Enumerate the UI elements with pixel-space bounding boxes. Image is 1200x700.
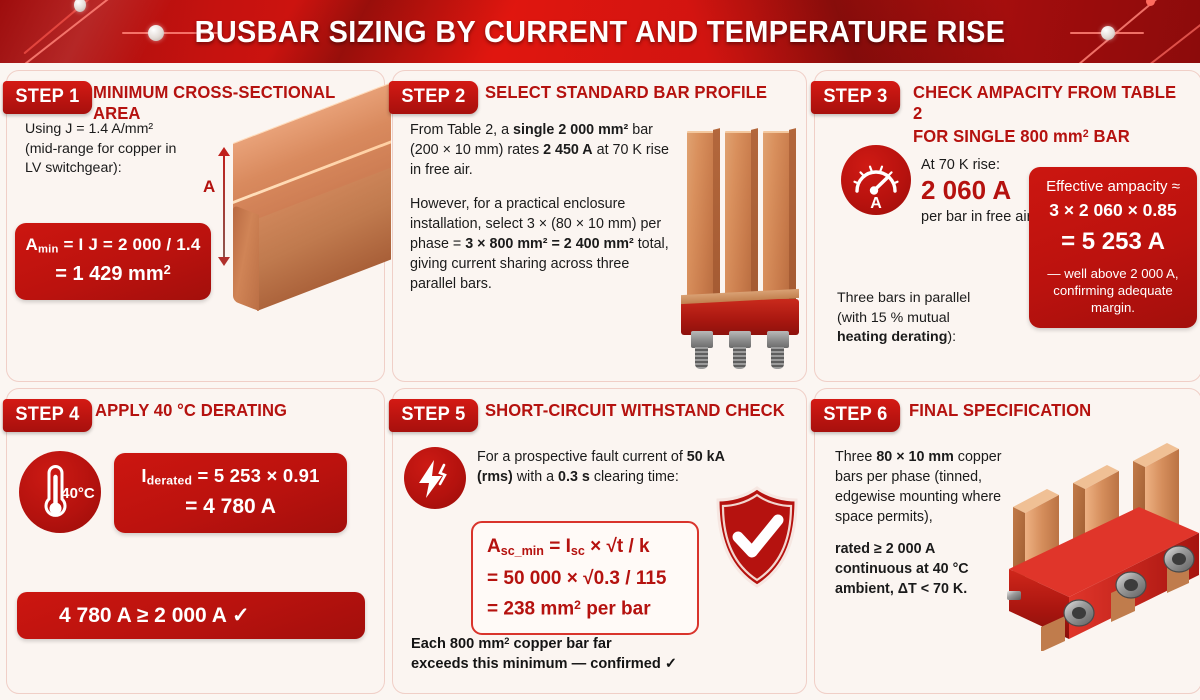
- step-1-formula-line-1: Amin = I J = 2 000 / 1.4: [23, 235, 203, 255]
- p5-b2: 0.3 s: [558, 469, 590, 485]
- step-1-formula-box: Amin = I J = 2 000 / 1.4 = 1 429 mm2: [15, 223, 211, 300]
- busbar-thread-2: [733, 347, 746, 369]
- p5-t2: with a: [513, 469, 558, 485]
- step-3-box-line-1: Effective ampacity ≈: [1039, 178, 1187, 195]
- three-bar-busbar-illustration: [681, 131, 801, 361]
- step-5-formula-line-1: Asc_min = Isc × √t / k: [487, 533, 685, 565]
- p2-t1: From Table 2, a: [410, 122, 513, 138]
- formula-result: = 1 429 mm: [55, 263, 163, 285]
- step-3-parallel-line-2: (with 15 % mutual: [837, 309, 1027, 329]
- p2-b2: 2 450 A: [543, 142, 593, 158]
- step-4-badge: STEP 4: [3, 399, 92, 432]
- p6-b2: rated ≥ 2 000 A continuous at 40 °C ambi…: [835, 541, 969, 597]
- p5-tail: × √t / k: [585, 536, 650, 557]
- busbar-base-block: [681, 299, 799, 335]
- step-3-parallel-line-1: Three bars in parallel: [837, 289, 1027, 309]
- step-3-title-line-2a: FOR SINGLE 800 mm: [913, 126, 1083, 146]
- step-3-at-rise-label: At 70 K rise:: [921, 157, 1000, 173]
- p5-sub-2: sc: [571, 544, 585, 558]
- dimension-label-A: A: [203, 177, 215, 197]
- busbar-nut-1: [691, 331, 713, 348]
- busbar-nut-3: [767, 331, 789, 348]
- step-3-box-line-3: = 5 253 A: [1039, 228, 1187, 256]
- p5-res-tail: per bar: [581, 598, 651, 619]
- step-3-box-note-2: confirming adequate margin.: [1039, 282, 1187, 316]
- step-2-paragraph-1: From Table 2, a single 2 000 mm² bar (20…: [410, 120, 670, 180]
- step-panel-2: STEP 2 SELECT STANDARD BAR PROFILE From …: [392, 70, 807, 382]
- p5-sym-A: A: [487, 536, 501, 557]
- ampacity-gauge-icon: A: [841, 145, 911, 215]
- step-4-title: APPLY 40 °C DERATING: [95, 400, 287, 421]
- step-5-badge: STEP 5: [389, 399, 478, 432]
- step-5-formula-box: Asc_min = Isc × √t / k = 50 000 × √0.3 /…: [471, 521, 699, 635]
- step-panel-4: STEP 4 APPLY 40 °C DERATING 40°C Iderate…: [6, 388, 385, 694]
- step-5-intro: For a prospective fault current of 50 kA…: [477, 447, 753, 487]
- step-3-parallel-note: Three bars in parallel (with 15 % mutual…: [837, 289, 1027, 348]
- step-1-intro-line-1: Using J = 1.4 A/mm²: [25, 120, 215, 140]
- step-3-title-line-1: CHECK AMPACITY FROM TABLE 2: [913, 82, 1176, 123]
- copper-bar-front-face: [233, 205, 259, 311]
- step-4-formula-box: Iderated = 5 253 × 0.91 = 4 780 A: [114, 453, 347, 533]
- p5-f2: copper bar far: [510, 636, 612, 652]
- step-6-body: Three 80 × 10 mm copper bars per phase (…: [835, 447, 1015, 599]
- p6-t1: Three: [835, 449, 876, 465]
- step-3-parallel-line-3: heating derating):: [837, 328, 1027, 348]
- step-4-subscript: derated: [147, 474, 192, 488]
- step-panel-3: STEP 3 CHECK AMPACITY FROM TABLE 2 FOR S…: [814, 70, 1200, 382]
- p5-f1: Each 800 mm: [411, 636, 504, 652]
- svg-text:40°C: 40°C: [61, 485, 95, 502]
- step-3-title: CHECK AMPACITY FROM TABLE 2 FOR SINGLE 8…: [913, 82, 1187, 147]
- svg-text:A: A: [870, 195, 882, 212]
- step-4-header: STEP 4 APPLY 40 °C DERATING: [7, 389, 384, 433]
- formula-superscript-2: 2: [164, 262, 171, 277]
- busbar-thread-1: [695, 347, 708, 369]
- step-4-formula-rest: = 5 253 × 0.91: [192, 465, 319, 486]
- step-5-formula-line-3: = 238 mm2 per bar: [487, 592, 685, 622]
- step-2-badge: STEP 2: [389, 81, 478, 114]
- step-panel-1: STEP 1 MINIMUM CROSS-SECTIONAL AREA Usin…: [6, 70, 385, 382]
- step-5-header: STEP 5 SHORT-CIRCUIT WITHSTAND CHECK: [393, 389, 806, 433]
- steps-grid: STEP 1 MINIMUM CROSS-SECTIONAL AREA Usin…: [6, 70, 1194, 696]
- lightning-bolt-icon: [404, 447, 466, 509]
- step-6-header: STEP 6 FINAL SPECIFICATION: [815, 389, 1200, 433]
- step-5-footnote: Each 800 mm2 copper bar far exceeds this…: [411, 631, 761, 674]
- step-3-result-box: Effective ampacity ≈ 3 × 2 060 × 0.85 = …: [1029, 167, 1197, 328]
- step-5-footnote-line-2: exceeds this minimum — confirmed ✓: [411, 654, 761, 674]
- step-2-body: From Table 2, a single 2 000 mm² bar (20…: [410, 120, 670, 294]
- step-6-badge: STEP 6: [811, 399, 900, 432]
- step-1-intro-line-3: LV switchgear):: [25, 159, 215, 179]
- step-1-formula-line-2: = 1 429 mm2: [23, 262, 203, 286]
- page-header: BUSBAR SIZING BY CURRENT AND TEMPERATURE…: [0, 0, 1200, 63]
- p5-t3: clearing time:: [590, 469, 679, 485]
- step-3-derating-bold: heating derating: [837, 329, 947, 345]
- p2-b1: single 2 000 mm²: [513, 122, 628, 138]
- step-3-per-bar-note: per bar in free air.: [921, 209, 1035, 225]
- step-3-box-line-4: — well above 2 000 A, confirming adequat…: [1039, 265, 1187, 316]
- step-6-block-1: Three 80 × 10 mm copper bars per phase (…: [835, 447, 1015, 527]
- busbar-thread-3: [771, 347, 784, 369]
- page-title: BUSBAR SIZING BY CURRENT AND TEMPERATURE…: [42, 0, 1158, 63]
- step-5-footnote-line-1: Each 800 mm2 copper bar far: [411, 631, 761, 654]
- step-3-ampacity-value: 2 060 A: [921, 175, 1011, 206]
- p5-sub-1: sc_min: [501, 544, 544, 558]
- dimension-arrow-down-icon: [218, 257, 230, 266]
- step-1-intro: Using J = 1.4 A/mm² (mid-range for coppe…: [25, 120, 215, 179]
- p6-b1: 80 × 10 mm: [876, 449, 954, 465]
- step-1-intro-line-2: (mid-range for copper in: [25, 140, 215, 160]
- step-3-box-line-2: 3 × 2 060 × 0.85: [1039, 200, 1187, 221]
- step-3-title-line-2b: BAR: [1089, 126, 1130, 146]
- step-2-header: STEP 2 SELECT STANDARD BAR PROFILE: [393, 71, 806, 115]
- step-4-result-bar: 4 780 A ≥ 2 000 A ✓: [17, 592, 365, 639]
- final-busbar-assembly-illustration: [1007, 441, 1200, 651]
- formula-rest: = I J = 2 000 / 1.4: [59, 235, 201, 254]
- formula-symbol-A: A: [25, 235, 37, 254]
- step-4-formula-line-2: = 4 780 A: [124, 495, 337, 519]
- temperature-thermometer-icon: 40°C: [19, 451, 101, 533]
- step-3-header: STEP 3 CHECK AMPACITY FROM TABLE 2 FOR S…: [815, 71, 1200, 115]
- step-3-box-note-1: — well above 2 000 A,: [1039, 265, 1187, 282]
- p5-t1: For a prospective fault current of: [477, 449, 687, 465]
- step-6-block-2: rated ≥ 2 000 A continuous at 40 °C ambi…: [835, 539, 1015, 599]
- step-3-derating-tail: ):: [947, 329, 956, 345]
- step-3-badge: STEP 3: [811, 81, 900, 114]
- step-2-title: SELECT STANDARD BAR PROFILE: [485, 82, 767, 103]
- step-panel-5: STEP 5 SHORT-CIRCUIT WITHSTAND CHECK For…: [392, 388, 807, 694]
- step-panel-6: STEP 6 FINAL SPECIFICATION Three 80 × 10…: [814, 388, 1200, 694]
- p2-b3: 3 × 800 mm² = 2 400 mm²: [465, 236, 633, 252]
- busbar-blade-2: [725, 131, 751, 306]
- step-6-title: FINAL SPECIFICATION: [909, 400, 1091, 421]
- dimension-arrow-line: [223, 153, 225, 263]
- busbar-blade-1: [687, 131, 713, 306]
- p5-sup: 2: [574, 598, 581, 612]
- busbar-nut-2: [729, 331, 751, 348]
- step-5-title: SHORT-CIRCUIT WITHSTAND CHECK: [485, 400, 785, 421]
- shield-check-icon: [711, 485, 803, 589]
- step-2-paragraph-2: However, for a practical enclosure insta…: [410, 194, 670, 294]
- formula-subscript-min: min: [38, 243, 59, 255]
- p5-res: = 238 mm: [487, 598, 574, 619]
- step-1-badge: STEP 1: [3, 81, 92, 114]
- step-5-formula-line-2: = 50 000 × √0.3 / 115: [487, 565, 685, 592]
- p5-mid: = I: [544, 536, 571, 557]
- busbar-blade-3: [763, 131, 789, 306]
- step-4-formula-line-1: Iderated = 5 253 × 0.91: [124, 465, 337, 488]
- copper-bar-illustration: [229, 129, 389, 329]
